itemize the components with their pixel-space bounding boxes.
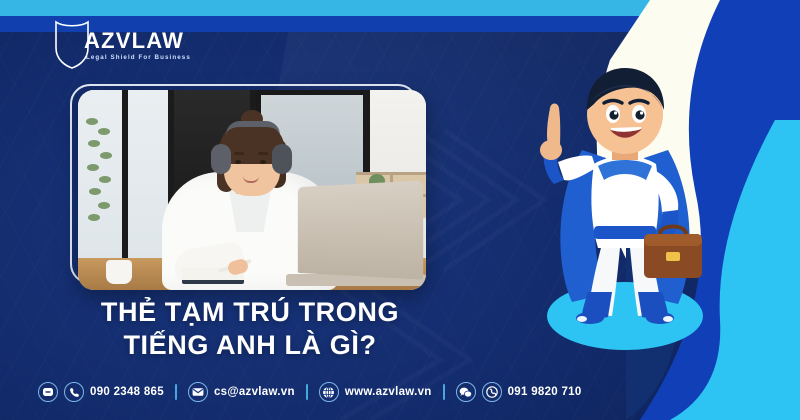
contact-hotline-secondary[interactable]: 091 9820 710: [456, 382, 582, 402]
contact-email[interactable]: cs@azvlaw.vn: [188, 382, 295, 402]
banner-root: AZVLAW Legal Shield For Business: [0, 0, 800, 420]
title-line-1: THẺ TẠM TRÚ TRONG: [0, 296, 500, 329]
contact-bar: 090 2348 865 cs@azvlaw.vn www.azvlaw.vn: [0, 378, 700, 406]
contact-website[interactable]: www.azvlaw.vn: [319, 382, 432, 402]
contact-hotline-secondary-text: 091 9820 710: [508, 386, 582, 398]
contact-divider: [306, 384, 308, 400]
brand-logo[interactable]: AZVLAW Legal Shield For Business: [36, 18, 176, 72]
wechat-icon[interactable]: [456, 382, 476, 402]
hero-photo: [78, 90, 426, 290]
zalo-icon[interactable]: [38, 382, 58, 402]
contact-email-text: cs@azvlaw.vn: [214, 386, 295, 398]
contact-hotline-primary[interactable]: 090 2348 865: [38, 382, 164, 402]
phone-icon[interactable]: [64, 382, 84, 402]
contact-website-text: www.azvlaw.vn: [345, 386, 432, 398]
contact-divider: [175, 384, 177, 400]
contact-hotline-primary-text: 090 2348 865: [90, 386, 164, 398]
logo-tagline: Legal Shield For Business: [86, 54, 191, 61]
mascot-superhero-businessman: [520, 58, 730, 358]
title-line-2: TIẾNG ANH LÀ GÌ?: [0, 329, 500, 362]
whatsapp-icon[interactable]: [482, 382, 502, 402]
email-icon[interactable]: [188, 382, 208, 402]
contact-divider: [443, 384, 445, 400]
logo-wordmark: AZVLAW: [84, 30, 184, 52]
page-title: THẺ TẠM TRÚ TRONG TIẾNG ANH LÀ GÌ?: [0, 296, 500, 362]
globe-icon[interactable]: [319, 382, 339, 402]
